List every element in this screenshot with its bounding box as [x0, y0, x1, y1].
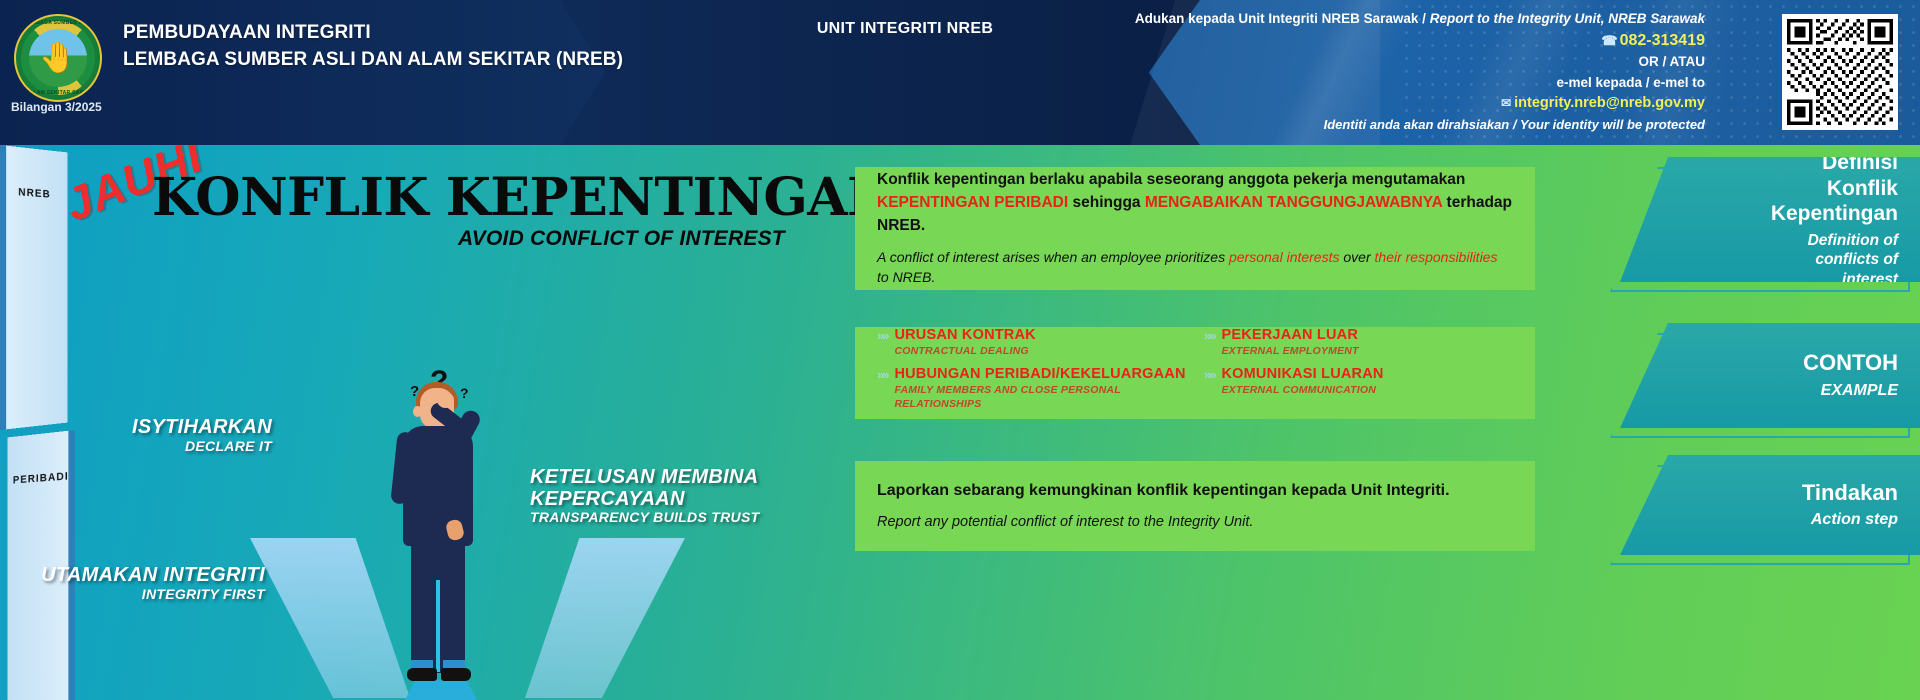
example-item-en: CONTRACTUAL DEALING	[894, 345, 1035, 359]
action-card-inner: Laporkan sebarang kemungkinan konflik ke…	[855, 479, 1535, 534]
definition-en-highlight2: their responsibilities	[1375, 249, 1498, 265]
example-tab-ms: CONTOH	[1678, 350, 1898, 377]
caption-integrity-first-en: INTEGRITY FIRST	[10, 587, 265, 603]
example-item-en: EXTERNAL EMPLOYMENT	[1221, 345, 1358, 359]
definition-card-inner: Konflik kepentingan berlaku apabila sese…	[855, 169, 1535, 287]
person-hand-on-head	[437, 392, 454, 408]
telephone-icon: ☎	[1601, 33, 1617, 48]
door-nreb: NREB	[0, 145, 68, 430]
example-tab: CONTOH EXAMPLE	[1620, 323, 1920, 428]
caption-declare-ms: ISYTIHARKAN	[92, 417, 272, 439]
door-nreb-label: NREB	[0, 185, 68, 202]
example-item-ms: URUSAN KONTRAK	[894, 327, 1035, 344]
example-item: »» HUBUNGAN PERIBADI/KEKELUARGAAN FAMILY…	[877, 366, 1186, 411]
example-item-ms: PEKERJAAN LUAR	[1221, 327, 1358, 344]
definition-ms-highlight2: MENGABAIKAN TANGGUNGJAWABNYA	[1145, 194, 1442, 211]
logo-text-top: LEMBAGA SUMBER ASLI	[16, 20, 100, 26]
example-item-text: HUBUNGAN PERIBADI/KEKELUARGAAN FAMILY ME…	[894, 366, 1186, 411]
action-tab-en: Action step	[1678, 510, 1898, 530]
example-item-ms: KOMUNIKASI LUARAN	[1221, 366, 1383, 383]
hero-title: KONFLIK KEPENTINGAN	[152, 167, 894, 228]
person-shadow	[395, 680, 487, 700]
org-line-2: LEMBAGA SUMBER ASLI DAN ALAM SEKITAR (NR…	[123, 47, 623, 74]
email-line[interactable]: ✉integrity.nreb@nreb.gov.my	[1095, 93, 1705, 115]
email-label: e-mel kepada / e-mel to	[1095, 73, 1705, 93]
person-leg-gap	[436, 580, 440, 672]
example-grid: »» URUSAN KONTRAK CONTRACTUAL DEALING »»…	[877, 327, 1513, 419]
definition-tab-en-line2: conflicts of	[1678, 250, 1898, 269]
example-tab-en: EXAMPLE	[1678, 381, 1898, 401]
definition-text-en: A conflict of interest arises when an em…	[877, 247, 1513, 288]
definition-ms-part1: Konflik kepentingan berlaku apabila sese…	[877, 171, 1465, 188]
example-item: »» URUSAN KONTRAK CONTRACTUAL DEALING	[877, 327, 1186, 358]
qr-code[interactable]	[1782, 14, 1898, 130]
example-item-text: KOMUNIKASI LUARAN EXTERNAL COMMUNICATION	[1221, 366, 1383, 397]
person-shoe-right	[441, 668, 471, 681]
definition-ms-highlight1: KEPENTINGAN PERIBADI	[877, 194, 1068, 211]
example-column-right: »» PEKERJAAN LUAR EXTERNAL EMPLOYMENT »»…	[1204, 327, 1513, 419]
protection-note: Identiti anda akan dirahsiakan / Your id…	[1095, 115, 1705, 135]
caption-integrity-first: UTAMAKAN INTEGRITI INTEGRITY FIRST	[10, 565, 265, 602]
definition-tab-ms-line2: Konflik	[1678, 176, 1898, 202]
poster-body: JAUHI KONFLIK KEPENTINGAN AVOID CONFLICT…	[0, 145, 1920, 700]
definition-en-part3: to NREB.	[877, 269, 935, 285]
report-en: Report to the Integrity Unit, NREB Saraw…	[1430, 11, 1705, 26]
light-beam-right	[525, 538, 685, 698]
example-card: »» URUSAN KONTRAK CONTRACTUAL DEALING »»…	[855, 327, 1535, 419]
phone-line[interactable]: ☎082-313419	[1095, 29, 1705, 52]
definition-card: Konflik kepentingan berlaku apabila sese…	[855, 167, 1535, 290]
unit-title: UNIT INTEGRITI NREB	[690, 20, 1120, 38]
definition-text-ms: Konflik kepentingan berlaku apabila sese…	[877, 169, 1513, 237]
chevrons-icon: »»	[877, 329, 887, 343]
action-text-ms: Laporkan sebarang kemungkinan konflik ke…	[877, 479, 1513, 503]
chevrons-icon: »»	[1204, 368, 1214, 382]
caption-integrity-first-ms: UTAMAKAN INTEGRITI	[10, 565, 265, 587]
report-line: Adukan kepada Unit Integriti NREB Sarawa…	[1095, 9, 1705, 29]
example-item: »» PEKERJAAN LUAR EXTERNAL EMPLOYMENT	[1204, 327, 1513, 358]
caption-transparency-ms: KETELUSAN MEMBINA KEPERCAYAAN	[530, 467, 790, 510]
or-line: OR / ATAU	[1095, 52, 1705, 72]
phone-number: 082-313419	[1620, 32, 1705, 49]
report-separator: /	[1422, 11, 1426, 26]
definition-ms-part2: sehingga	[1068, 194, 1145, 211]
hero-subtitle: AVOID CONFLICT OF INTEREST	[458, 227, 785, 251]
caption-transparency: KETELUSAN MEMBINA KEPERCAYAAN TRANSPAREN…	[530, 467, 790, 526]
definition-en-part1: A conflict of interest arises when an em…	[877, 249, 1229, 265]
envelope-icon: ✉	[1501, 96, 1511, 110]
example-item: »» KOMUNIKASI LUARAN EXTERNAL COMMUNICAT…	[1204, 366, 1513, 397]
example-column-left: »» URUSAN KONTRAK CONTRACTUAL DEALING »»…	[877, 327, 1186, 419]
example-item-text: PEKERJAAN LUAR EXTERNAL EMPLOYMENT	[1221, 327, 1358, 358]
person-ear	[413, 406, 422, 417]
infographic-poster: 🤚 LEMBAGA SUMBER ASLI DAN ALAM SEKITAR S…	[0, 0, 1920, 700]
example-item-en: EXTERNAL COMMUNICATION	[1221, 384, 1383, 398]
content-column: Konflik kepentingan berlaku apabila sese…	[845, 145, 1920, 700]
logo-text-bottom: DAN ALAM SEKITAR SARAWAK	[16, 90, 100, 96]
chevrons-icon: »»	[877, 368, 887, 382]
logo-emblem: 🤚	[29, 29, 87, 87]
definition-tab-ms: Definisi Konflik Kepentingan	[1678, 150, 1898, 227]
example-item-text: URUSAN KONTRAK CONTRACTUAL DEALING	[894, 327, 1035, 358]
example-item-en: FAMILY MEMBERS AND CLOSE PERSONAL RELATI…	[894, 384, 1186, 411]
definition-tab-ms-line1: Definisi	[1678, 150, 1898, 176]
example-item-ms: HUBUNGAN PERIBADI/KEKELUARGAAN	[894, 366, 1186, 383]
caption-transparency-en: TRANSPARENCY BUILDS TRUST	[530, 510, 790, 526]
issue-number: Bilangan 3/2025	[11, 100, 102, 114]
nreb-logo: 🤚 LEMBAGA SUMBER ASLI DAN ALAM SEKITAR S…	[14, 14, 102, 102]
hand-leaf-icon: 🤚	[39, 43, 76, 73]
person-shoe-left	[407, 668, 437, 681]
example-card-inner: »» URUSAN KONTRAK CONTRACTUAL DEALING »»…	[855, 327, 1535, 419]
chevrons-icon: »»	[1204, 329, 1214, 343]
definition-en-highlight1: personal interests	[1229, 249, 1340, 265]
qr-code-graphic	[1787, 19, 1893, 125]
definition-tab-en: Definition of conflicts of interest	[1678, 231, 1898, 289]
action-tab: Tindakan Action step	[1620, 455, 1920, 555]
report-ms: Adukan kepada Unit Integriti NREB Sarawa…	[1135, 11, 1419, 26]
organization-title: PEMBUDAYAAN INTEGRITI LEMBAGA SUMBER ASL…	[123, 20, 623, 74]
door-peribadi-label: PERIBADI	[7, 470, 75, 487]
action-text-en: Report any potential conflict of interes…	[877, 512, 1513, 534]
org-line-1: PEMBUDAYAAN INTEGRITI	[123, 20, 623, 47]
definition-en-part2: over	[1340, 249, 1375, 265]
action-card: Laporkan sebarang kemungkinan konflik ke…	[855, 461, 1535, 551]
caption-declare: ISYTIHARKAN DECLARE IT	[92, 417, 272, 454]
person-illustration	[385, 370, 495, 700]
caption-declare-en: DECLARE IT	[92, 439, 272, 455]
definition-tab-en-line1: Definition of	[1678, 231, 1898, 250]
definition-tab-ms-line3: Kepentingan	[1678, 201, 1898, 227]
definition-tab: Definisi Konflik Kepentingan Definition …	[1620, 157, 1920, 282]
contact-block: Adukan kepada Unit Integriti NREB Sarawa…	[1095, 9, 1705, 134]
action-tab-ms: Tindakan	[1678, 480, 1898, 507]
page-header: 🤚 LEMBAGA SUMBER ASLI DAN ALAM SEKITAR S…	[0, 0, 1920, 145]
email-address: integrity.nreb@nreb.gov.my	[1514, 95, 1705, 111]
